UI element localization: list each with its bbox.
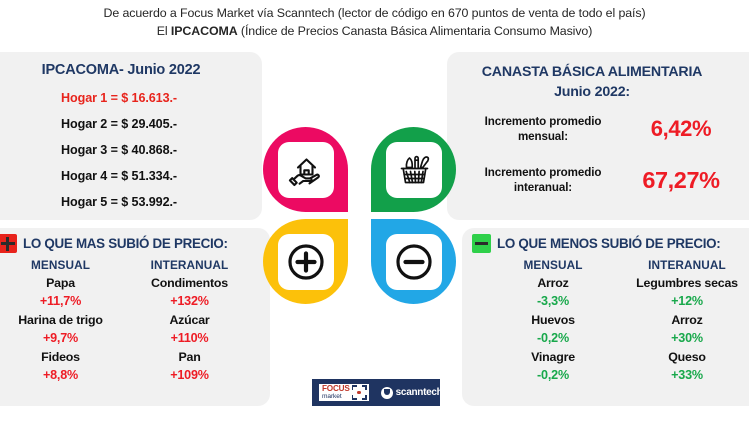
- item-name: Legumbres secas: [620, 274, 749, 292]
- center-icon-cluster: [263, 127, 478, 307]
- item-name: Pan: [125, 348, 254, 366]
- canasta-panel: CANASTA BÁSICA ALIMENTARIA Junio 2022: I…: [447, 52, 749, 220]
- column-header: INTERANUAL: [620, 258, 749, 272]
- item-value: +33%: [620, 366, 749, 385]
- hogar-row: Hogar 3 = $ 40.868.-: [0, 137, 248, 163]
- item-value: +12%: [620, 292, 749, 311]
- scanntech-wordmark: scanntech: [396, 387, 443, 398]
- scanntech-logo: scanntech: [381, 387, 443, 399]
- item-value: -3,3%: [486, 292, 620, 311]
- incremento-interanual-row: Incremento promedio interanual: 67,27%: [465, 165, 741, 195]
- header-line-2-post: (Índice de Precios Canasta Básica Alimen…: [238, 24, 593, 38]
- grocery-basket-tile: [386, 142, 442, 198]
- focus-market-logo: FOCUS market: [319, 384, 369, 401]
- incremento-interanual-value: 67,27%: [621, 167, 741, 194]
- menos-subio-mensual-column: MENSUAL Arroz -3,3% Huevos -0,2% Vinagre…: [486, 258, 620, 385]
- mas-subio-panel: LO QUE MAS SUBIÓ DE PRECIO: MENSUAL Papa…: [0, 228, 270, 406]
- menos-subio-title: LO QUE MENOS SUBIÓ DE PRECIO:: [497, 236, 720, 251]
- house-in-hand-icon: [286, 150, 326, 190]
- item-name: Harina de trigo: [0, 311, 125, 329]
- canasta-title: CANASTA BÁSICA ALIMENTARIA Junio 2022:: [447, 62, 737, 102]
- plus-circle-tile: [278, 234, 334, 290]
- item-name: Arroz: [620, 311, 749, 329]
- column-header: INTERANUAL: [125, 258, 254, 272]
- mas-subio-columns: MENSUAL Papa +11,7% Harina de trigo +9,7…: [0, 258, 254, 385]
- item-value: -0,2%: [486, 329, 620, 348]
- incremento-mensual-label: Incremento promedio mensual:: [465, 114, 621, 144]
- focus-text: FOCUS: [322, 385, 350, 393]
- decrease-quadrant: [371, 219, 456, 304]
- incremento-mensual-row: Incremento promedio mensual: 6,42%: [465, 114, 741, 144]
- item-value: -0,2%: [486, 366, 620, 385]
- hogar-row: Hogar 5 = $ 53.992.-: [0, 189, 248, 215]
- header-line-2-pre: El: [157, 24, 171, 38]
- header-line-1: De acuerdo a Focus Market vía Scanntech …: [0, 4, 749, 22]
- header: De acuerdo a Focus Market vía Scanntech …: [0, 4, 749, 40]
- item-value: +8,8%: [0, 366, 125, 385]
- item-name: Fideos: [0, 348, 125, 366]
- basket-quadrant: [371, 127, 456, 212]
- incremento-interanual-label: Incremento promedio interanual:: [465, 165, 621, 195]
- plus-circle-icon: [285, 241, 327, 283]
- minus-circle-tile: [386, 234, 442, 290]
- item-value: +30%: [620, 329, 749, 348]
- item-value: +11,7%: [0, 292, 125, 311]
- housing-quadrant: [263, 127, 348, 212]
- focus-bracket-icon: [352, 385, 367, 400]
- canasta-title-line-1: CANASTA BÁSICA ALIMENTARIA: [447, 62, 737, 82]
- item-name: Queso: [620, 348, 749, 366]
- hogar-row: Hogar 4 = $ 51.334.-: [0, 163, 248, 189]
- menos-subio-interanual-column: INTERANUAL Legumbres secas +12% Arroz +3…: [620, 258, 749, 385]
- ipcacoma-panel: IPCACOMA- Junio 2022 Hogar 1 = $ 16.613.…: [0, 52, 262, 220]
- hogar-row: Hogar 1 = $ 16.613.-: [0, 85, 248, 111]
- focus-market-wordmark: FOCUS market: [322, 385, 350, 400]
- item-value: +110%: [125, 329, 254, 348]
- ipcacoma-title: IPCACOMA- Junio 2022: [0, 62, 252, 78]
- hogar-row: Hogar 2 = $ 29.405.-: [0, 111, 248, 137]
- column-header: MENSUAL: [486, 258, 620, 272]
- item-name: Huevos: [486, 311, 620, 329]
- item-name: Arroz: [486, 274, 620, 292]
- canasta-title-line-2: Junio 2022:: [447, 82, 737, 102]
- increase-quadrant: [263, 219, 348, 304]
- menos-subio-columns: MENSUAL Arroz -3,3% Huevos -0,2% Vinagre…: [486, 258, 749, 385]
- menos-subio-panel: LO QUE MENOS SUBIÓ DE PRECIO: MENSUAL Ar…: [462, 228, 749, 406]
- infographic-canvas: De acuerdo a Focus Market vía Scanntech …: [0, 0, 749, 421]
- item-name: Papa: [0, 274, 125, 292]
- menos-subio-header: LO QUE MENOS SUBIÓ DE PRECIO:: [472, 234, 720, 253]
- market-text: market: [322, 393, 350, 401]
- grocery-basket-icon: [393, 149, 435, 191]
- mas-subio-mensual-column: MENSUAL Papa +11,7% Harina de trigo +9,7…: [0, 258, 125, 385]
- hogar-list: Hogar 1 = $ 16.613.- Hogar 2 = $ 29.405.…: [0, 85, 248, 215]
- mas-subio-header: LO QUE MAS SUBIÓ DE PRECIO:: [0, 234, 228, 253]
- mas-subio-title: LO QUE MAS SUBIÓ DE PRECIO:: [23, 236, 228, 251]
- header-line-2: El IPCACOMA (Índice de Precios Canasta B…: [0, 22, 749, 40]
- item-name: Condimentos: [125, 274, 254, 292]
- item-value: +132%: [125, 292, 254, 311]
- plus-square-icon: [0, 234, 17, 253]
- incremento-mensual-value: 6,42%: [621, 116, 741, 142]
- item-value: +9,7%: [0, 329, 125, 348]
- item-name: Vinagre: [486, 348, 620, 366]
- scanntech-mark-icon: [381, 387, 393, 399]
- item-name: Azúcar: [125, 311, 254, 329]
- header-ipcacoma-acronym: IPCACOMA: [171, 24, 238, 38]
- house-in-hand-tile: [278, 142, 334, 198]
- logo-bar: FOCUS market scanntech: [312, 379, 440, 406]
- item-value: +109%: [125, 366, 254, 385]
- mas-subio-interanual-column: INTERANUAL Condimentos +132% Azúcar +110…: [125, 258, 254, 385]
- minus-circle-icon: [393, 241, 435, 283]
- column-header: MENSUAL: [0, 258, 125, 272]
